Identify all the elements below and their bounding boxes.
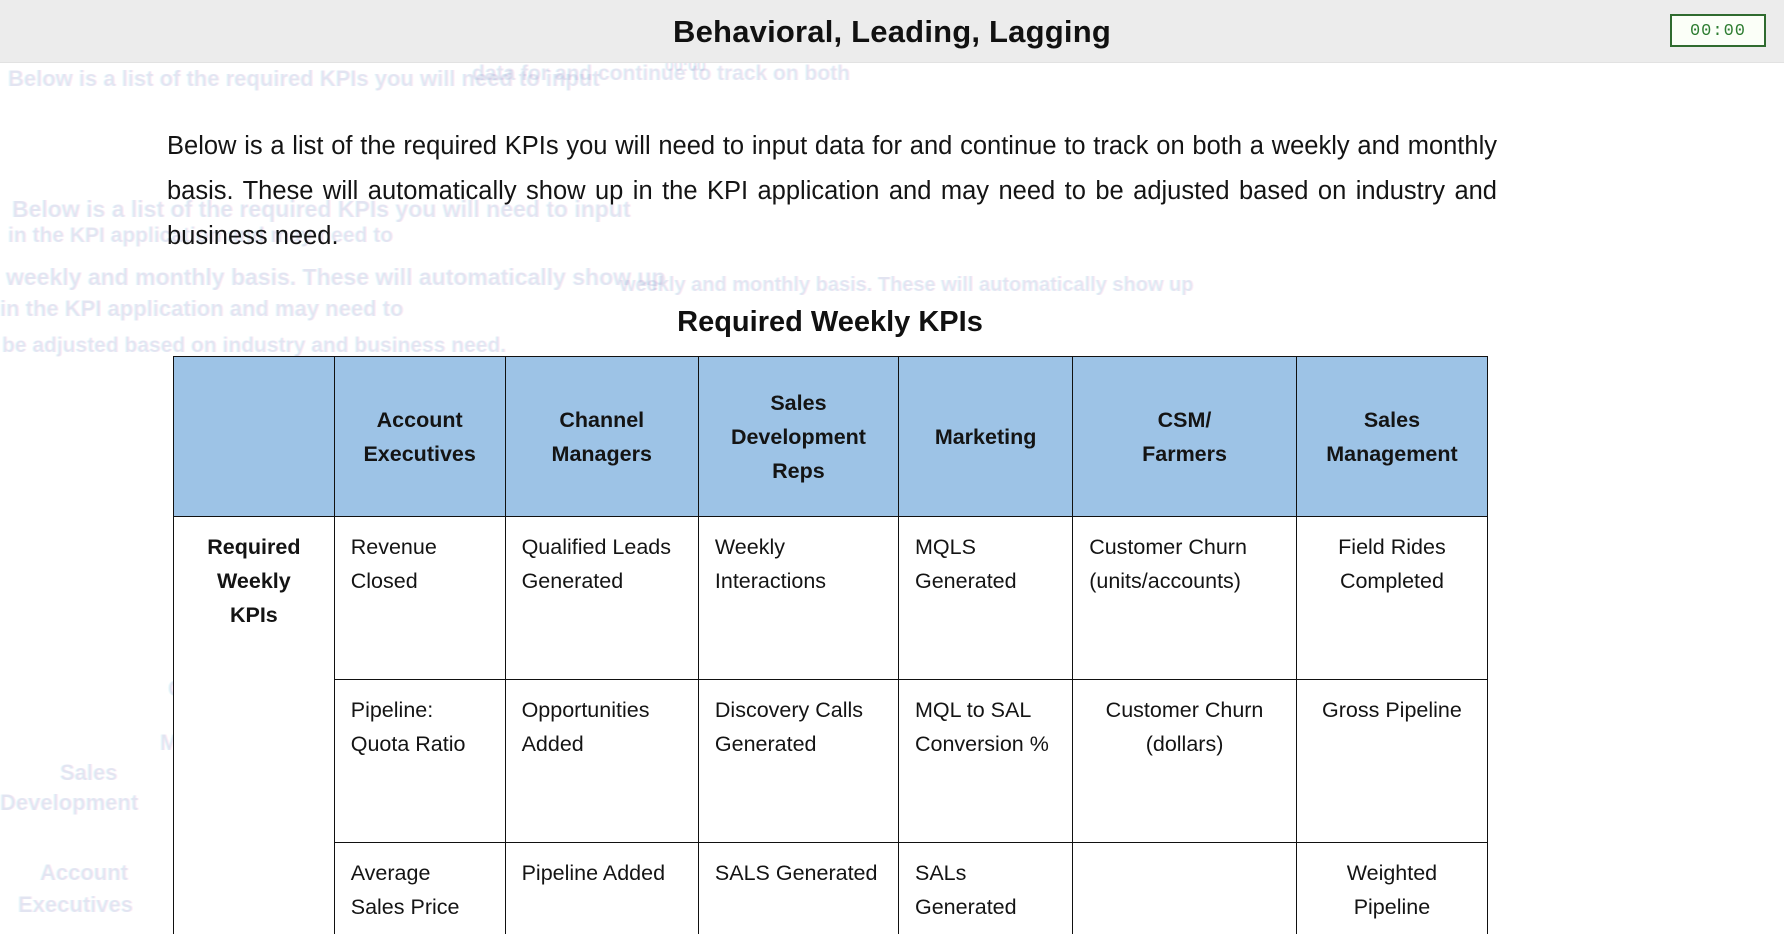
- ghost-fragment: Account: [40, 860, 128, 886]
- table-body: Required Weekly KPIs Revenue Closed Qual…: [174, 517, 1488, 934]
- timer-display: 00:00: [1670, 14, 1766, 47]
- ghost-fragment: Sales: [60, 760, 118, 786]
- header-line: Development: [707, 420, 890, 454]
- cell-mkt-2: MQL to SAL Conversion %: [898, 680, 1072, 843]
- cell-ae-1: Revenue Closed: [334, 517, 505, 680]
- table-header-corner: [174, 357, 335, 517]
- header-line: Executives: [343, 437, 497, 471]
- ghost-fragment: data for and continue to track on both: [472, 62, 850, 86]
- table-header-account-executives: Account Executives: [334, 357, 505, 517]
- row-label-required-weekly-kpis: Required Weekly KPIs: [174, 517, 335, 934]
- table-header-csm-farmers: CSM/ Farmers: [1073, 357, 1297, 517]
- ghost-fragment: weekly and monthly basis. These will aut…: [6, 264, 666, 291]
- cell-mkt-3: SALs Generated: [898, 843, 1072, 934]
- intro-paragraph: Below is a list of the required KPIs you…: [167, 124, 1497, 259]
- cell-sm-2: Gross Pipeline: [1296, 680, 1487, 843]
- ghost-fragment: Below is a list of the required KPIs you…: [8, 66, 600, 92]
- header-line: Marketing: [907, 420, 1064, 454]
- table-header-channel-managers: Channel Managers: [505, 357, 698, 517]
- table-header: Account Executives Channel Managers Sale…: [174, 357, 1488, 517]
- table-header-sales-management: Sales Management: [1296, 357, 1487, 517]
- cell-cm-3: Pipeline Added: [505, 843, 698, 934]
- ghost-fragment: Executives: [18, 892, 133, 918]
- table-header-sales-development-reps: Sales Development Reps: [698, 357, 898, 517]
- cell-csm-1: Customer Churn (units/accounts): [1073, 517, 1297, 680]
- page-title: Behavioral, Leading, Lagging: [0, 0, 1784, 63]
- section-heading: Required Weekly KPIs: [0, 306, 1660, 339]
- cell-sdr-1: Weekly Interactions: [698, 517, 898, 680]
- row-label-line: Weekly: [190, 564, 318, 598]
- cell-sdr-3: SALS Generated: [698, 843, 898, 934]
- header-line: Management: [1305, 437, 1479, 471]
- header-line: Channel: [514, 403, 690, 437]
- header-line: Account: [343, 403, 497, 437]
- document-page: Below is a list of the required KPIs you…: [0, 0, 1784, 934]
- table-row: Pipeline: Quota Ratio Opportunities Adde…: [174, 680, 1488, 843]
- top-bar: Behavioral, Leading, Lagging 00:00: [0, 0, 1784, 63]
- header-line: CSM/: [1081, 403, 1288, 437]
- cell-cm-1: Qualified Leads Generated: [505, 517, 698, 680]
- required-weekly-kpis-table: Account Executives Channel Managers Sale…: [173, 356, 1488, 934]
- header-line: Sales: [1305, 403, 1479, 437]
- cell-cm-2: Opportunities Added: [505, 680, 698, 843]
- header-line: Farmers: [1081, 437, 1288, 471]
- header-line: Managers: [514, 437, 690, 471]
- table-row: Average Sales Price Pipeline Added SALS …: [174, 843, 1488, 934]
- cell-csm-2: Customer Churn (dollars): [1073, 680, 1297, 843]
- cell-ae-3: Average Sales Price: [334, 843, 505, 934]
- ghost-fragment: weekly and monthly basis. These will aut…: [620, 274, 1194, 297]
- ghost-fragment: Development: [0, 790, 138, 816]
- header-line: Reps: [707, 454, 890, 488]
- header-line: Sales: [707, 386, 890, 420]
- table-row: Required Weekly KPIs Revenue Closed Qual…: [174, 517, 1488, 680]
- cell-sm-3: Weighted Pipeline: [1296, 843, 1487, 934]
- table-header-marketing: Marketing: [898, 357, 1072, 517]
- cell-sm-1: Field Rides Completed: [1296, 517, 1487, 680]
- kpi-table-container: Account Executives Channel Managers Sale…: [173, 356, 1488, 934]
- cell-csm-3: [1073, 843, 1297, 934]
- row-label-line: Required: [190, 530, 318, 564]
- cell-mkt-1: MQLS Generated: [898, 517, 1072, 680]
- cell-sdr-2: Discovery Calls Generated: [698, 680, 898, 843]
- table-header-row: Account Executives Channel Managers Sale…: [174, 357, 1488, 517]
- row-label-line: KPIs: [190, 598, 318, 632]
- cell-ae-2: Pipeline: Quota Ratio: [334, 680, 505, 843]
